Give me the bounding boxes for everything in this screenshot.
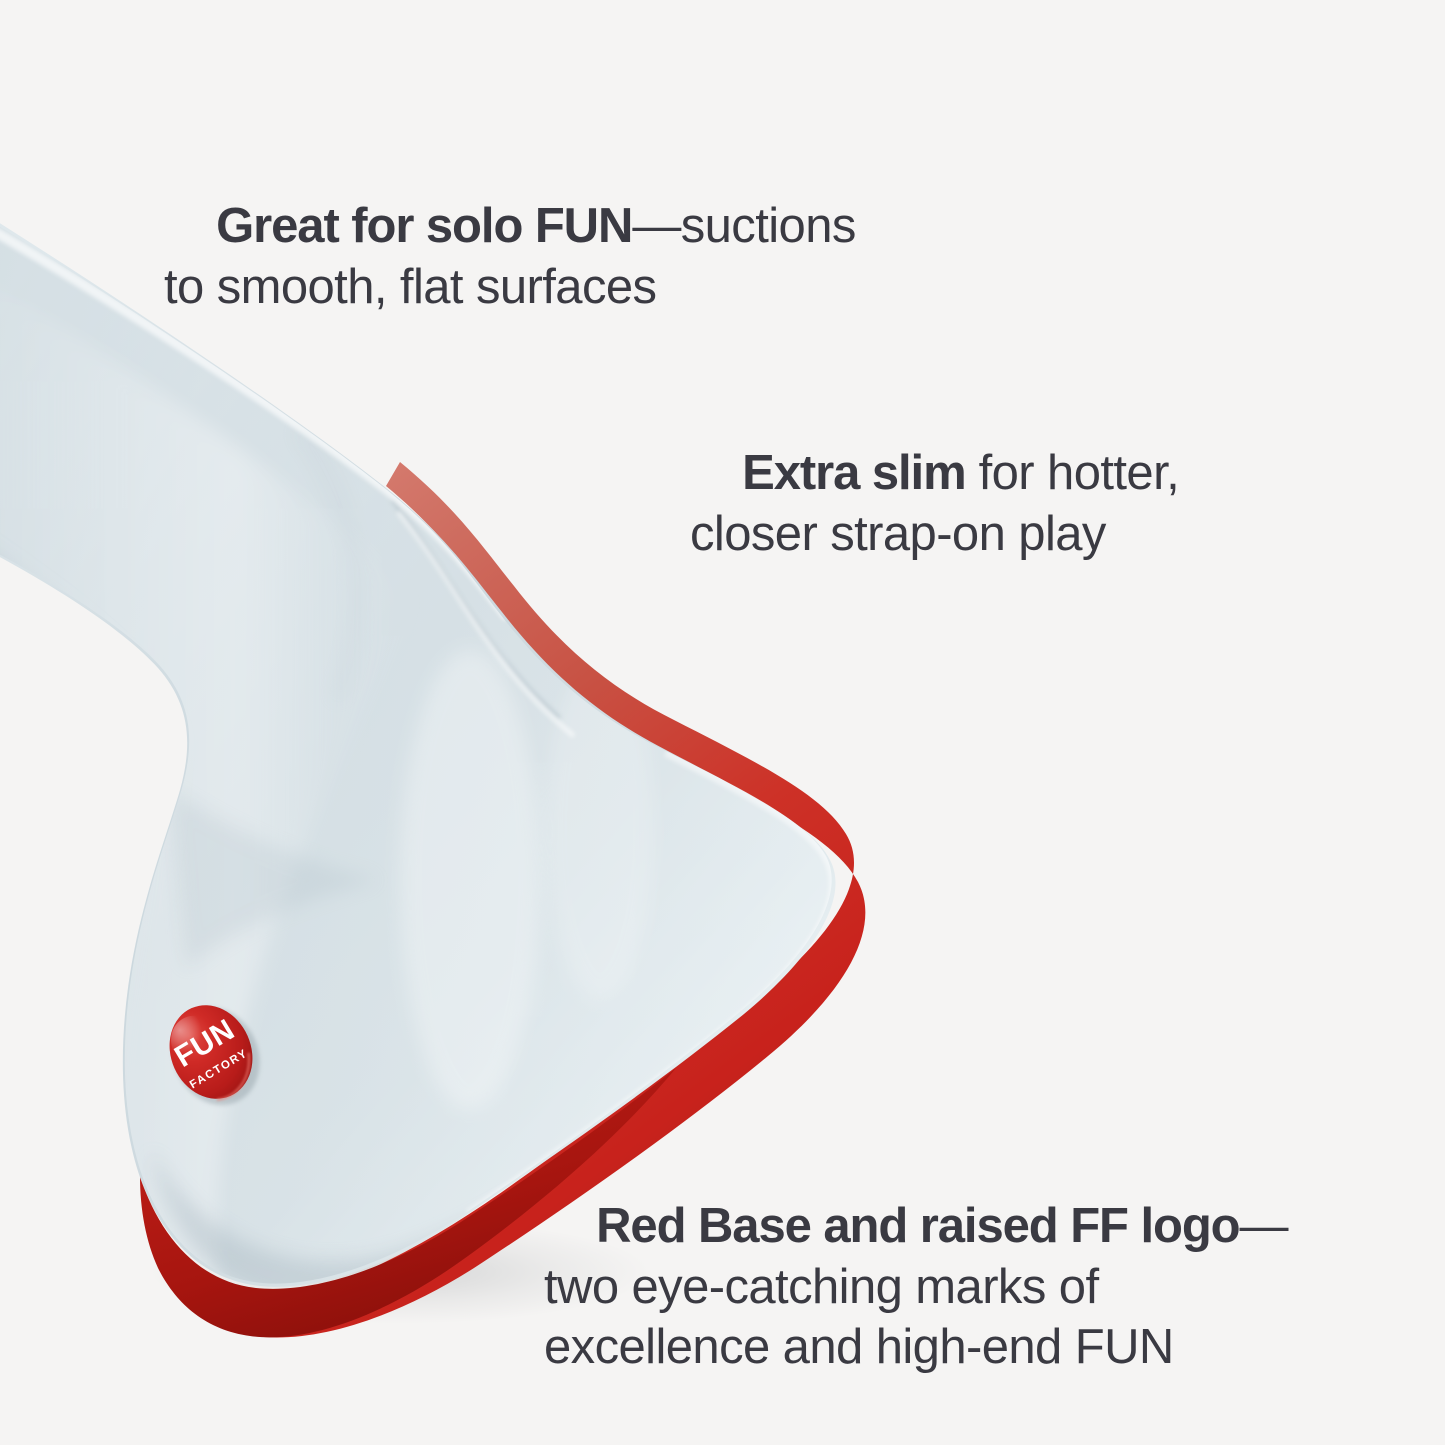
- callout-redbase-lead: Red Base and raised FF logo: [596, 1199, 1239, 1253]
- fun-factory-logo-badge: FUN FACTORY: [155, 990, 275, 1120]
- callout-red-base-logo: Red Base and raised FF logo— two eye-cat…: [544, 1136, 1344, 1437]
- logo-fun-text: FUN: [169, 1013, 240, 1074]
- logo-factory-text: FACTORY: [188, 1047, 250, 1091]
- callout-extra-slim: Extra slim for hotter, closer strap-on p…: [690, 383, 1330, 624]
- callout-slim-lead: Extra slim: [742, 446, 965, 500]
- product-feature-image: FUN FACTORY Great for solo FUN—suctions …: [0, 0, 1445, 1445]
- callout-solo-lead: Great for solo FUN: [216, 199, 632, 253]
- callout-solo-fun: Great for solo FUN—suctions to smooth, f…: [164, 136, 984, 377]
